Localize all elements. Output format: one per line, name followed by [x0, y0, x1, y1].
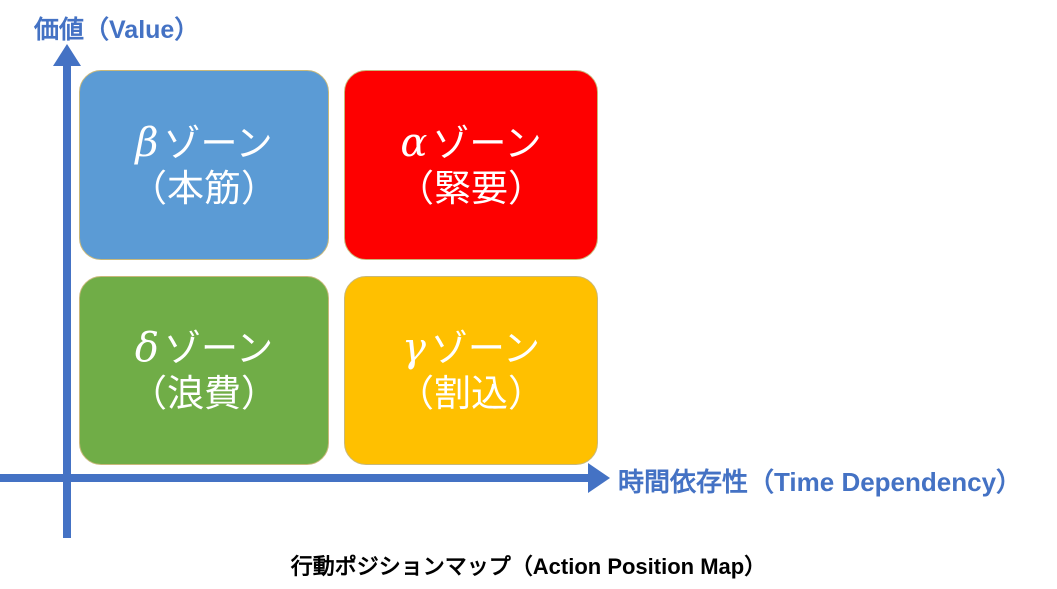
quadrant-delta-subtitle: （浪費）	[130, 373, 278, 414]
greek-letter-alpha: α	[400, 120, 432, 166]
greek-letter-beta: β	[135, 120, 163, 166]
action-position-map-diagram: 価値（Value） 時間依存性（Time Dependency） βゾーン （本…	[0, 0, 1057, 589]
y-axis-label: 価値（Value）	[34, 10, 199, 46]
quadrant-delta[interactable]: δゾーン （浪費）	[79, 276, 329, 465]
x-axis-label: 時間依存性（Time Dependency）	[618, 462, 1022, 499]
quadrant-beta-subtitle: （本筋）	[130, 168, 278, 209]
quadrant-alpha-title: αゾーン	[400, 121, 541, 166]
quadrant-gamma[interactable]: γゾーン （割込）	[344, 276, 598, 465]
x-axis-line	[0, 474, 592, 482]
quadrant-beta-title: βゾーン	[135, 121, 272, 166]
arrow-right-icon	[588, 463, 610, 493]
quadrant-alpha[interactable]: αゾーン （緊要）	[344, 70, 598, 260]
quadrant-gamma-title: γゾーン	[402, 326, 540, 371]
quadrant-alpha-zone-word: ゾーン	[432, 123, 541, 164]
greek-letter-delta: δ	[135, 325, 164, 371]
quadrant-gamma-subtitle: （割込）	[397, 373, 545, 414]
quadrant-beta-zone-word: ゾーン	[163, 123, 272, 164]
quadrant-alpha-subtitle: （緊要）	[397, 168, 545, 209]
quadrant-delta-title: δゾーン	[135, 326, 273, 371]
diagram-caption: 行動ポジションマップ（Action Position Map）	[0, 549, 1057, 581]
quadrant-delta-zone-word: ゾーン	[164, 328, 273, 369]
quadrant-gamma-zone-word: ゾーン	[431, 328, 540, 369]
quadrant-beta[interactable]: βゾーン （本筋）	[79, 70, 329, 260]
arrow-up-icon	[53, 44, 81, 66]
y-axis-line	[63, 60, 71, 538]
greek-letter-gamma: γ	[402, 325, 431, 371]
